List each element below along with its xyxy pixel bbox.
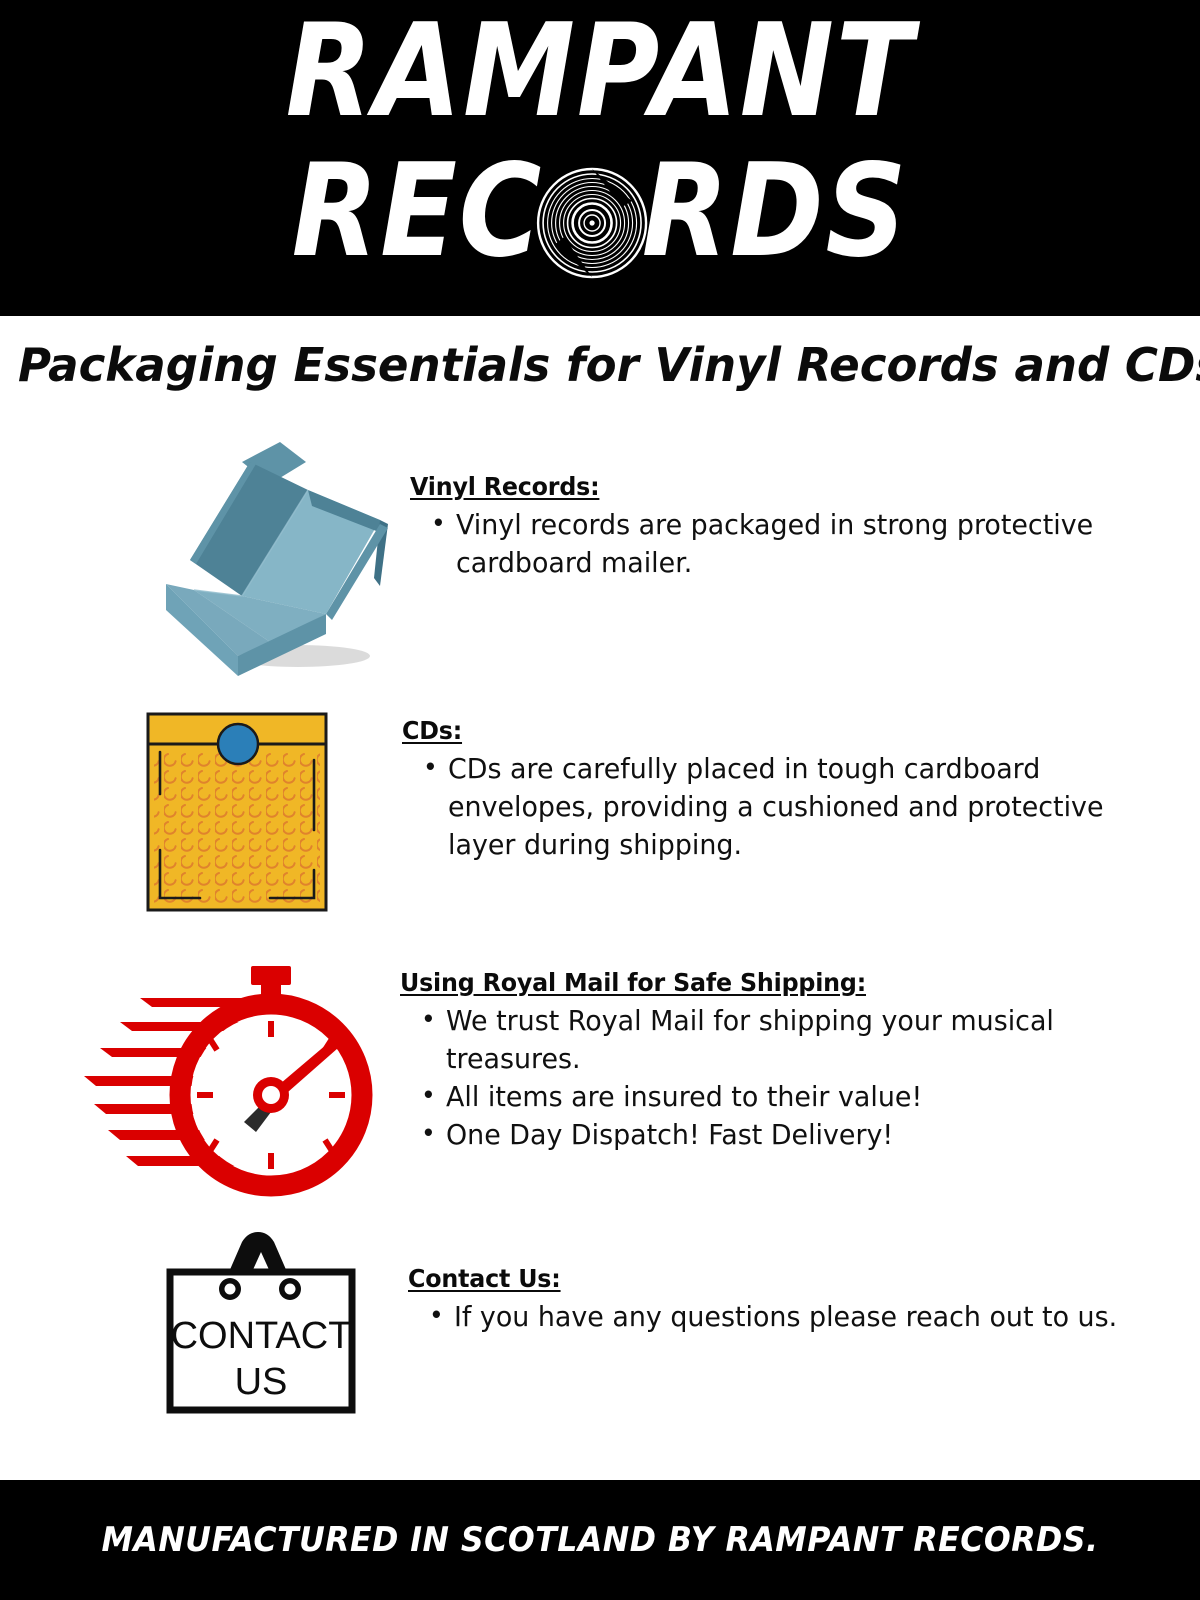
section-heading-vinyl: Vinyl Records: (410, 472, 1123, 502)
list-item: All items are insured to their value! (446, 1078, 1134, 1116)
section-heading-contact: Contact Us: (408, 1264, 1122, 1294)
contact-sign-line-2: US (235, 1361, 288, 1403)
brand-title-line-2: REC (72, 148, 1128, 279)
section-contact-us: CONTACT US Contact Us: If you have any q… (130, 1228, 1160, 1413)
section-heading-royal-mail: Using Royal Mail for Safe Shipping: (400, 968, 1125, 998)
brand-title-suffix: RDS (642, 148, 909, 276)
vinyl-record-icon (537, 167, 649, 279)
contact-us-sign-icon: CONTACT US (130, 1228, 400, 1413)
open-cardboard-box-icon (130, 428, 410, 678)
section-vinyl-records: Vinyl Records: Vinyl records are package… (130, 428, 1160, 678)
page-subtitle: Packaging Essentials for Vinyl Records a… (18, 336, 1165, 394)
section-royal-mail: Using Royal Mail for Safe Shipping: We t… (78, 960, 1163, 1195)
padded-envelope-icon (130, 700, 380, 915)
list-item: One Day Dispatch! Fast Delivery! (446, 1116, 1134, 1154)
header-band: RAMPANT REC (0, 0, 1200, 316)
footer-band: MANUFACTURED IN SCOTLAND BY RAMPANT RECO… (0, 1480, 1200, 1600)
section-royal-mail-text: Using Royal Mail for Safe Shipping: We t… (400, 960, 1163, 1154)
brand-title-line-1: RAMPANT (72, 8, 1128, 136)
section-cds-text: CDs: CDs are carefully placed in tough c… (402, 700, 1160, 864)
list-item: CDs are carefully placed in tough cardbo… (448, 750, 1132, 864)
section-contact-text: Contact Us: If you have any questions pl… (408, 1228, 1160, 1336)
bullet-list-contact: If you have any questions please reach o… (408, 1298, 1160, 1336)
list-item: Vinyl records are packaged in strong pro… (456, 506, 1132, 582)
bullet-list-vinyl: Vinyl records are packaged in strong pro… (410, 506, 1160, 582)
section-heading-cds: CDs: (402, 716, 1122, 746)
list-item: We trust Royal Mail for shipping your mu… (446, 1002, 1134, 1078)
list-item: If you have any questions please reach o… (454, 1298, 1132, 1336)
bullet-list-cds: CDs are carefully placed in tough cardbo… (402, 750, 1160, 864)
section-vinyl-text: Vinyl Records: Vinyl records are package… (410, 428, 1160, 582)
section-cds: CDs: CDs are carefully placed in tough c… (130, 700, 1160, 915)
brand-title-prefix: REC (292, 148, 544, 276)
contact-sign-line-1: CONTACT (171, 1315, 352, 1357)
bullet-list-royal-mail: We trust Royal Mail for shipping your mu… (400, 1002, 1163, 1154)
stopwatch-speed-icon (78, 960, 378, 1195)
footer-text: MANUFACTURED IN SCOTLAND BY RAMPANT RECO… (42, 1520, 1158, 1560)
